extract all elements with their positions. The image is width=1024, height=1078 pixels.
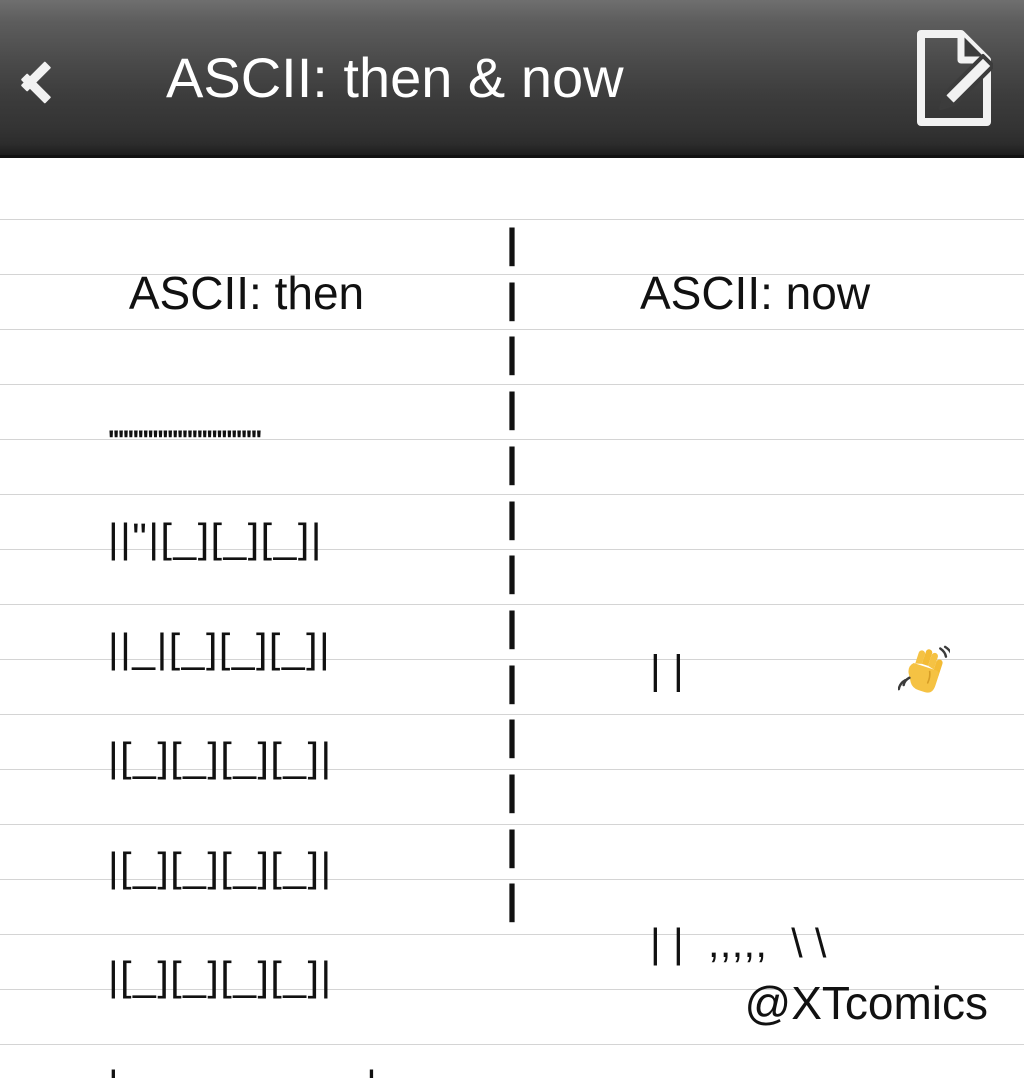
divider-pipe: |: [492, 544, 532, 599]
back-button[interactable]: [0, 0, 120, 157]
art-line: ''''''''''''''''''''''''''''''': [108, 423, 378, 457]
navigation-bar: ASCII: then & now: [0, 0, 1024, 158]
art-line: | |: [650, 587, 940, 697]
divider-pipe: |: [492, 490, 532, 545]
divider-pipe: |: [492, 216, 532, 271]
divider-pipe: |: [492, 325, 532, 380]
divider-pipe: |: [492, 872, 532, 927]
art-line: ||_|[_][_][_]|: [108, 621, 378, 676]
divider-pipe: |: [492, 818, 532, 873]
app-root: ASCII: then & now ASCII: then ''''''''''…: [0, 0, 1024, 1078]
art-line: |[_][_][_][_]|: [108, 949, 378, 1004]
notebook-page: ASCII: then ''''''''''''''''''''''''''''…: [0, 158, 1024, 1078]
person-ascii-art: | |: [650, 368, 940, 1078]
comic-content: ASCII: then ''''''''''''''''''''''''''''…: [0, 158, 1024, 1078]
waving-hand-emoji: [756, 587, 808, 639]
panel-now-heading: ASCII: now: [532, 266, 1024, 320]
divider-pipe: |: [492, 708, 532, 763]
panel-then: ASCII: then ''''''''''''''''''''''''''''…: [0, 158, 505, 1078]
panel-divider: |||||||||||||: [492, 158, 532, 1078]
panel-now: ASCII: now | |: [532, 158, 1024, 1078]
divider-pipe: |: [492, 380, 532, 435]
divider-pipe: |: [492, 763, 532, 818]
calculator-ascii-art: ''''''''''''''''''''''''''''''' ||"|[_][…: [108, 368, 378, 1078]
divider-pipe: |: [492, 654, 532, 709]
page-title: ASCII: then & now: [120, 45, 884, 110]
art-line: | ________ |: [108, 1058, 378, 1078]
art-line-text: | |: [650, 647, 756, 693]
art-line: ||"|[_][_][_]|: [108, 511, 378, 566]
compose-note-icon: [915, 30, 993, 126]
compose-button[interactable]: [884, 0, 1024, 157]
panel-then-heading: ASCII: then: [0, 266, 505, 320]
chevron-left-icon: [40, 42, 80, 114]
divider-pipes: |||||||||||||: [492, 216, 532, 927]
art-line: |[_][_][_][_]|: [108, 730, 378, 785]
author-signature: @XTcomics: [745, 976, 989, 1030]
divider-pipe: |: [492, 271, 532, 326]
divider-pipe: |: [492, 435, 532, 490]
art-line: |[_][_][_][_]|: [108, 840, 378, 895]
divider-pipe: |: [492, 599, 532, 654]
art-line: | | ,,,,, \ \: [650, 916, 940, 971]
